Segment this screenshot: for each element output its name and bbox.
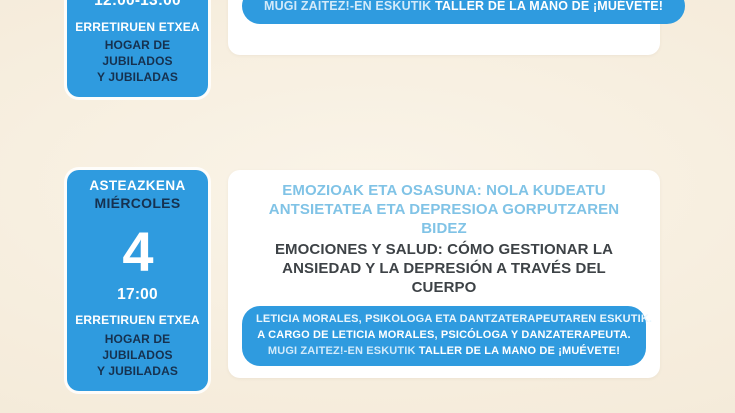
event-title-es-line2: ANSIEDAD Y LA DEPRESIÓN A TRAVÉS DEL <box>242 259 646 278</box>
event-date-block: ASTEAZKENA MIÉRCOLES 4 17:00 ERRETIRUEN … <box>67 170 208 391</box>
event-venue-eu: ERRETIRUEN ETXEA <box>73 19 202 35</box>
organizer-eu: MUGI ZAITEZ!-EN ESKUTIK <box>268 345 416 357</box>
event-time: 17:00 <box>73 286 202 305</box>
event-title-es-line3: CUERPO <box>242 278 646 297</box>
event-time: 12:00-13:00 <box>73 0 202 11</box>
event-title-eu-line3: BIDEZ <box>242 219 646 238</box>
event-row: ASTEAZKENA MIÉRCOLES 4 17:00 ERRETIRUEN … <box>67 170 660 391</box>
event-title-es: EMOCIONES Y SALUD: CÓMO GESTIONAR LA ANS… <box>242 240 646 298</box>
event-venue-es-line1: HOGAR DE JUBILADOS <box>73 37 202 69</box>
organizer-line: MUGI ZAITEZ!-EN ESKUTIK TALLER DE LA MAN… <box>264 0 663 15</box>
event-weekday-eu: ASTEAZKENA <box>73 178 202 194</box>
organizer-es: TALLER DE LA MANO DE ¡MUÉVETE! <box>419 345 620 357</box>
event-title-eu: EMOZIOAK ETA OSASUNA: NOLA KUDEATU ANTSI… <box>242 181 646 239</box>
presenter-line-eu: LETICIA MORALES, PSIKOLOGA ETA DANTZATER… <box>256 312 632 328</box>
event-detail-card: EMOZIOAK ETA OSASUNA: NOLA KUDEATU ANTSI… <box>228 170 660 378</box>
organizer-es: TALLER DE LA MANO DE ¡MUÉVETE! <box>435 0 663 13</box>
event-date-block: 12:00-13:00 ERRETIRUEN ETXEA HOGAR DE JU… <box>67 0 208 97</box>
event-venue-es-line1: HOGAR DE JUBILADOS <box>73 331 202 363</box>
event-venue-es: HOGAR DE JUBILADOS Y JUBILADAS <box>73 37 202 86</box>
event-venue-es: HOGAR DE JUBILADOS Y JUBILADAS <box>73 331 202 380</box>
event-title-eu-line1: EMOZIOAK ETA OSASUNA: NOLA KUDEATU <box>242 181 646 200</box>
event-venue-es-line2: Y JUBILADAS <box>73 69 202 85</box>
event-row: 12:00-13:00 ERRETIRUEN ETXEA HOGAR DE JU… <box>67 0 660 97</box>
event-title-es-line1: EMOCIONES Y SALUD: CÓMO GESTIONAR LA <box>242 240 646 259</box>
organizer-eu: MUGI ZAITEZ!-EN ESKUTIK <box>264 0 431 13</box>
organizer-line: MUGI ZAITEZ!-EN ESKUTIK TALLER DE LA MAN… <box>256 344 632 360</box>
event-presenter-pill: LETICIA MORALES, PSIKOLOGA ETA DANTZATER… <box>242 306 646 366</box>
event-venue-es-line2: Y JUBILADAS <box>73 363 202 379</box>
event-venue-eu: ERRETIRUEN ETXEA <box>73 312 202 328</box>
event-day-number: 4 <box>73 224 202 280</box>
event-weekday-es: MIÉRCOLES <box>73 195 202 212</box>
event-detail-card: MUGI ZAITEZ!-EN ESKUTIK TALLER DE LA MAN… <box>228 0 660 55</box>
event-title-eu-line2: ANTSIETATEA ETA DEPRESIOA GORPUTZAREN <box>242 200 646 219</box>
program-page: 12:00-13:00 ERRETIRUEN ETXEA HOGAR DE JU… <box>0 0 735 413</box>
presenter-line-es: A CARGO DE LETICIA MORALES, PSICÓLOGA Y … <box>256 328 632 344</box>
event-organizer-pill: MUGI ZAITEZ!-EN ESKUTIK TALLER DE LA MAN… <box>242 0 685 24</box>
